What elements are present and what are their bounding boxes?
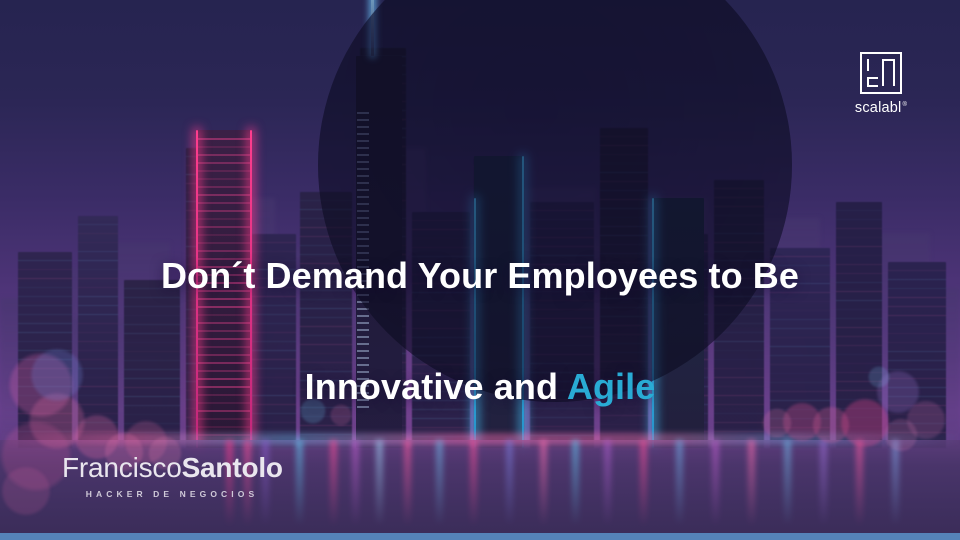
headline-line-1: Don´t Demand Your Employees to Be [161, 255, 799, 296]
presentation-slide: Don´t Demand Your Employees to Be Innova… [0, 0, 960, 540]
trademark-mark: ® [902, 102, 907, 108]
scalabl-square-mark-icon [860, 52, 902, 94]
scalabl-logo: scalabl® [844, 52, 918, 117]
speaker-last-name: Santolo [182, 452, 283, 483]
headline-line-2-prefix: Innovative and [305, 366, 567, 407]
bottom-accent-bar [0, 533, 960, 540]
bokeh-light [1, 466, 51, 516]
bokeh-light [884, 418, 918, 452]
scalabl-wordmark: scalabl® [855, 100, 907, 116]
headline: Don´t Demand Your Employees to Be Innova… [0, 192, 960, 415]
scalabl-mark-inner-tick [867, 59, 869, 71]
speaker-tagline: HACKER DE NEGOCIOS [62, 489, 282, 499]
scalabl-wordmark-text: scalabl [855, 100, 902, 116]
speaker-first-name: Francisco [62, 452, 182, 483]
speaker-logo: FranciscoSantolo HACKER DE NEGOCIOS [62, 452, 282, 499]
speaker-name: FranciscoSantolo [62, 452, 282, 484]
headline-accent-word: Agile [567, 366, 656, 407]
scalabl-mark-inner-box [867, 77, 878, 87]
scalabl-mark-inner-right [882, 59, 895, 86]
